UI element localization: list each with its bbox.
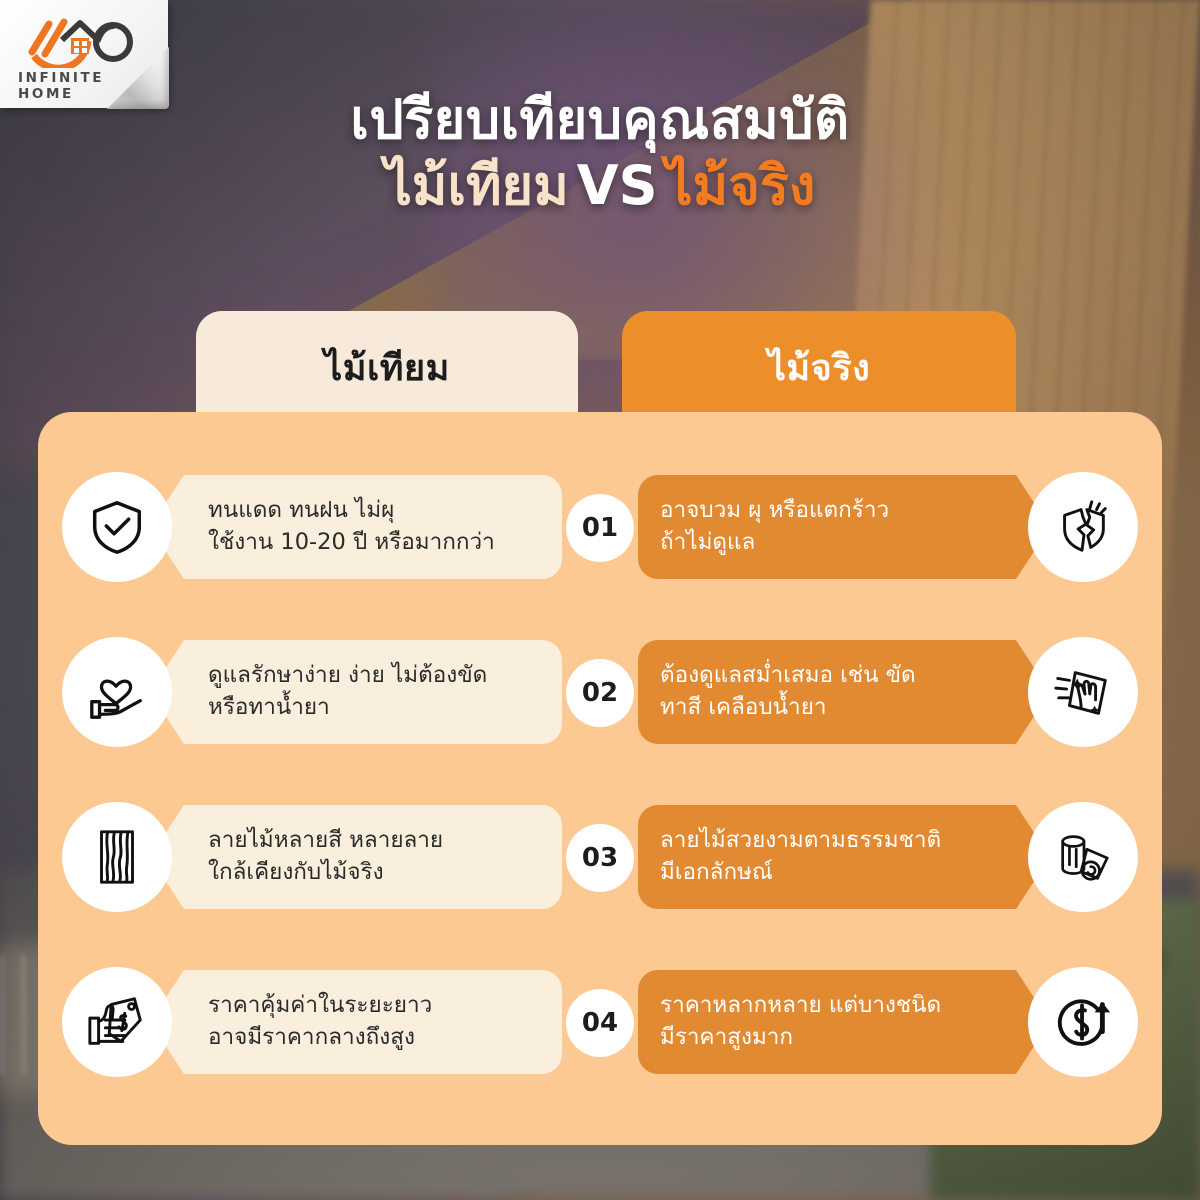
right-statement-line-2: มีราคาสูงมาก xyxy=(660,1022,992,1054)
right-statement-line-1: ราคาหลากหลาย แต่บางชนิด xyxy=(660,990,992,1022)
title-real-word: ไม้จริง xyxy=(665,154,815,217)
comparison-row: ดูแลรักษาง่าย ง่าย ไม่ต้องขัด หรือทาน้ำย… xyxy=(38,630,1162,754)
dollar-circle-up-arrow-icon xyxy=(1028,967,1138,1077)
left-statement-bubble: ดูแลรักษาง่าย ง่าย ไม่ต้องขัด หรือทาน้ำย… xyxy=(150,640,562,744)
hand-heart-icon xyxy=(62,637,172,747)
row-number-badge: 03 xyxy=(566,824,634,892)
left-statement-bubble: ราคาคุ้มค่าในระยะยาว อาจมีราคากลางถึงสูง xyxy=(150,970,562,1074)
right-statement-line-2: ถ้าไม่ดูแล xyxy=(660,527,992,559)
row-number-badge: 04 xyxy=(566,989,634,1057)
row-number-badge: 01 xyxy=(566,494,634,562)
column-header-synthetic: ไม้เทียม xyxy=(196,311,578,423)
title-synthetic-word: ไม้เทียม xyxy=(385,154,569,217)
comparison-row: ราคาคุ้มค่าในระยะยาว อาจมีราคากลางถึงสูง… xyxy=(38,960,1162,1084)
shield-check-icon xyxy=(62,472,172,582)
row-number-label: 02 xyxy=(582,678,618,708)
cleaning-cloth-icon xyxy=(1028,637,1138,747)
left-statement-line-1: ลายไม้หลายสี หลายลาย xyxy=(208,825,544,857)
wood-grain-plank-icon xyxy=(62,802,172,912)
right-statement-line-2: ทาสี เคลือบน้ำยา xyxy=(660,692,992,724)
right-statement-line-1: ต้องดูแลสม่ำเสมอ เช่น ขัด xyxy=(660,660,992,692)
infographic-canvas: INFINITE HOME เปรียบเทียบคุณสมบัติ ไม้เท… xyxy=(0,0,1200,1200)
left-statement-line-1: ราคาคุ้มค่าในระยะยาว xyxy=(208,990,544,1022)
left-statement-line-2: ใกล้เคียงกับไม้จริง xyxy=(208,857,544,889)
infinite-home-logo-icon xyxy=(18,16,150,68)
right-statement-bubble: ราคาหลากหลาย แต่บางชนิด มีราคาสูงมาก xyxy=(638,970,1050,1074)
left-statement-line-2: หรือทาน้ำยา xyxy=(208,692,544,724)
right-statement-bubble: ลายไม้สวยงามตามธรรมชาติ มีเอกลักษณ์ xyxy=(638,805,1050,909)
right-statement-line-1: ลายไม้สวยงามตามธรรมชาติ xyxy=(660,825,992,857)
column-header-real: ไม้จริง xyxy=(622,311,1016,423)
title-vs-word: VS xyxy=(577,154,658,217)
right-statement-line-2: มีเอกลักษณ์ xyxy=(660,857,992,889)
title-line-1: เปรียบเทียบคุณสมบัติ xyxy=(0,88,1200,152)
wood-logs-icon xyxy=(1028,802,1138,912)
shield-broken-icon xyxy=(1028,472,1138,582)
left-statement-line-2: อาจมีราคากลางถึงสูง xyxy=(208,1022,544,1054)
right-statement-bubble: อาจบวม ผุ หรือแตกร้าว ถ้าไม่ดูแล xyxy=(638,475,1050,579)
right-statement-bubble: ต้องดูแลสม่ำเสมอ เช่น ขัด ทาสี เคลือบน้ำ… xyxy=(638,640,1050,744)
page-title: เปรียบเทียบคุณสมบัติ ไม้เทียมVSไม้จริง xyxy=(0,88,1200,219)
row-number-badge: 02 xyxy=(566,659,634,727)
left-statement-line-1: ทนแดด ทนฝน ไม่ผุ xyxy=(208,495,544,527)
title-line-2: ไม้เทียมVSไม้จริง xyxy=(0,152,1200,220)
left-statement-bubble: ลายไม้หลายสี หลายลาย ใกล้เคียงกับไม้จริง xyxy=(150,805,562,909)
left-statement-line-2: ใช้งาน 10-20 ปี หรือมากกว่า xyxy=(208,527,544,559)
row-number-label: 04 xyxy=(582,1008,618,1038)
thumbs-up-price-tag-icon xyxy=(62,967,172,1077)
left-statement-bubble: ทนแดด ทนฝน ไม่ผุ ใช้งาน 10-20 ปี หรือมาก… xyxy=(150,475,562,579)
column-header-real-label: ไม้จริง xyxy=(768,339,870,396)
comparison-panel: ทนแดด ทนฝน ไม่ผุ ใช้งาน 10-20 ปี หรือมาก… xyxy=(38,412,1162,1145)
comparison-row: ทนแดด ทนฝน ไม่ผุ ใช้งาน 10-20 ปี หรือมาก… xyxy=(38,465,1162,589)
row-number-label: 01 xyxy=(582,513,618,543)
comparison-row: ลายไม้หลายสี หลายลาย ใกล้เคียงกับไม้จริง… xyxy=(38,795,1162,919)
left-statement-line-1: ดูแลรักษาง่าย ง่าย ไม่ต้องขัด xyxy=(208,660,544,692)
right-statement-line-1: อาจบวม ผุ หรือแตกร้าว xyxy=(660,495,992,527)
row-number-label: 03 xyxy=(582,843,618,873)
column-header-synthetic-label: ไม้เทียม xyxy=(324,339,450,396)
